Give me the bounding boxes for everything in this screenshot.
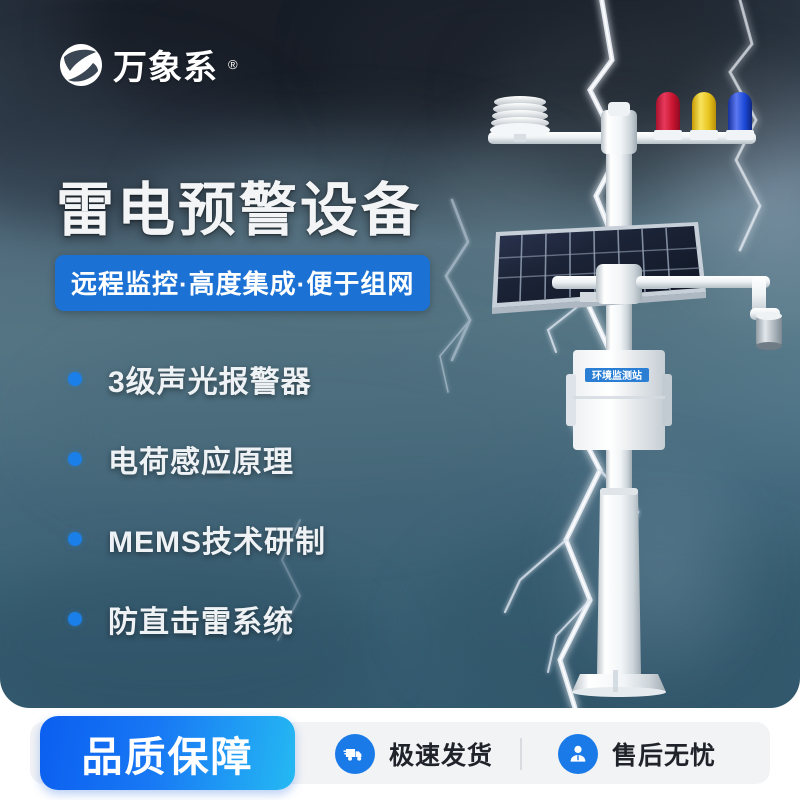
service-divider bbox=[520, 738, 522, 770]
electric-field-sensor-arm bbox=[636, 276, 782, 350]
page-title: 雷电预警设备 bbox=[56, 163, 422, 247]
bullet-dot-icon bbox=[68, 532, 82, 546]
service-fast-shipping[interactable]: 极速发货 bbox=[335, 734, 493, 774]
support-pole-lower bbox=[597, 490, 641, 674]
brand-name: 万象系 bbox=[113, 40, 218, 89]
hero-banner: 万象系 ® 雷电预警设备 远程监控·高度集成·便于组网 3级声光报警器 电荷感应… bbox=[0, 0, 800, 708]
feature-list: 3级声光报警器 电荷感应原理 MEMS技术研制 防直击雷系统 bbox=[68, 348, 326, 668]
feature-label: 3级声光报警器 bbox=[108, 357, 312, 401]
product-image: 环境监测站 bbox=[430, 80, 800, 700]
wanxiangxi-swoosh-logo-icon bbox=[58, 43, 104, 87]
service-after-sales[interactable]: 售后无忧 bbox=[558, 734, 716, 774]
brand-logo: 万象系 ® bbox=[58, 40, 238, 89]
quality-guarantee-badge[interactable]: 品质保障 bbox=[40, 716, 295, 790]
service-label: 极速发货 bbox=[389, 736, 493, 772]
mid-collar bbox=[596, 264, 642, 304]
list-item: 3级声光报警器 bbox=[68, 348, 326, 410]
bullet-dot-icon bbox=[68, 452, 82, 466]
three-stage-alarm-beacon-yellow bbox=[690, 92, 718, 140]
three-stage-alarm-beacon-red bbox=[654, 92, 682, 140]
quality-guarantee-label: 品质保障 bbox=[82, 723, 254, 783]
feature-label: 防直击雷系统 bbox=[108, 597, 294, 641]
customer-service-person-icon bbox=[558, 734, 598, 774]
delivery-truck-icon bbox=[335, 734, 375, 774]
bullet-dot-icon bbox=[68, 372, 82, 386]
feature-label: 电荷感应原理 bbox=[108, 437, 294, 481]
list-item: MEMS技术研制 bbox=[68, 508, 326, 570]
control-cabinet: 环境监测站 bbox=[566, 350, 672, 450]
three-stage-alarm-beacon-blue bbox=[726, 92, 754, 140]
list-item: 电荷感应原理 bbox=[68, 428, 326, 490]
subtitle-badge: 远程监控·高度集成·便于组网 bbox=[55, 255, 430, 311]
feature-label: MEMS技术研制 bbox=[108, 517, 326, 561]
service-label: 售后无忧 bbox=[612, 736, 716, 772]
registered-mark: ® bbox=[228, 57, 238, 72]
bullet-dot-icon bbox=[68, 612, 82, 626]
pole-collar bbox=[601, 110, 637, 154]
list-item: 防直击雷系统 bbox=[68, 588, 326, 650]
cabinet-label-text: 环境监测站 bbox=[592, 369, 642, 382]
footer-service-bar: 品质保障 极速发货 售后无忧 bbox=[0, 708, 800, 800]
